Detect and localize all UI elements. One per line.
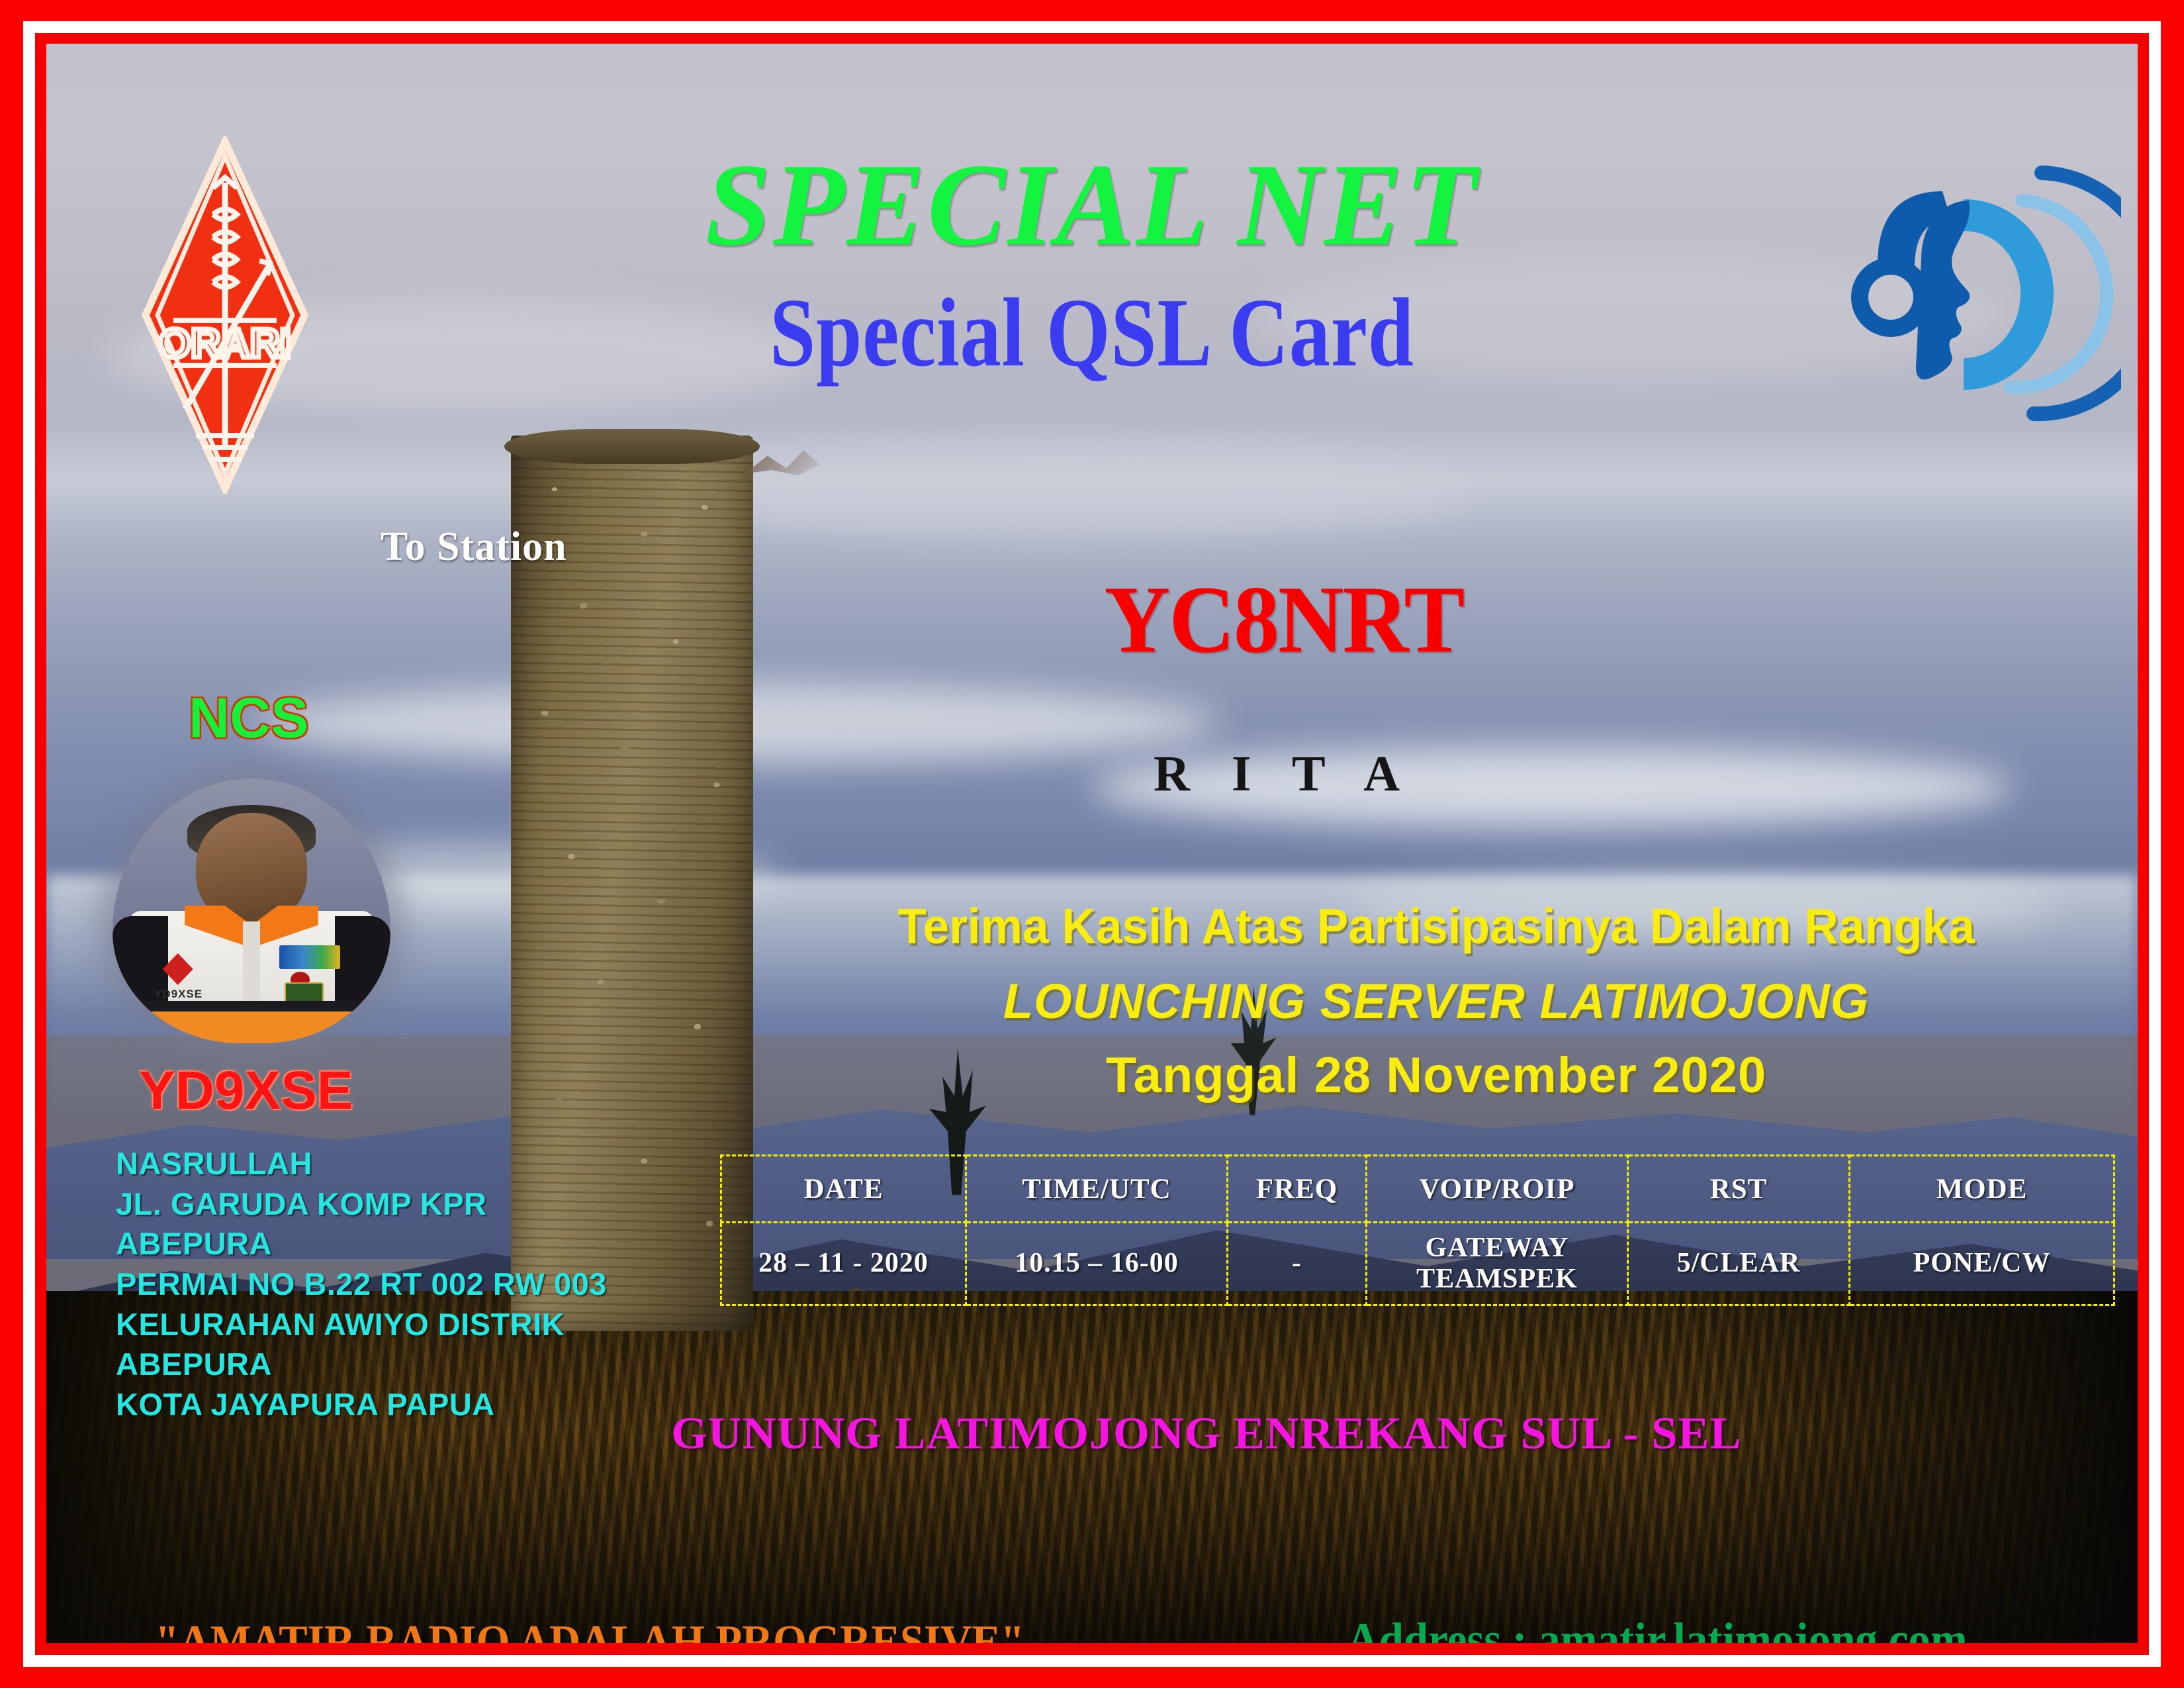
- column-header-rst: RST: [1628, 1156, 1850, 1223]
- cell-time: 10.15 – 16-00: [966, 1223, 1228, 1305]
- address-line: NASRULLAH: [116, 1144, 607, 1184]
- motto-text: "AMATIR RADIO ADALAH PROGRESIVE": [155, 1616, 1024, 1643]
- ncs-label: NCS: [189, 686, 309, 751]
- event-text-block: Terima Kasih Atas Partisipasinya Dalam R…: [774, 898, 2098, 1104]
- address-line: ABEPURA: [116, 1224, 607, 1264]
- ncs-operator-avatar: YD9XSE: [113, 778, 390, 1043]
- location-caption: GUNUNG LATIMOJONG ENREKANG SUL - SEL: [671, 1407, 1741, 1460]
- cell-date: 28 – 11 - 2020: [721, 1223, 966, 1305]
- column-header-time: TIME/UTC: [966, 1156, 1228, 1223]
- address-line: PERMAI NO B.22 RT 002 RW 003: [116, 1264, 607, 1305]
- website-address: Address : amatir.latimojong.com: [1347, 1613, 1967, 1643]
- cloud: [632, 444, 1469, 539]
- operator-name: R I T A: [1013, 745, 1555, 803]
- stone-pillar-cap: [504, 429, 760, 464]
- cell-rst: 5/CLEAR: [1628, 1223, 1850, 1305]
- card-background-photo: ORARI SPECIAL NET Special QSL Card To St…: [46, 44, 2138, 1643]
- event-date-line: Tanggal 28 November 2020: [774, 1047, 2098, 1104]
- event-occasion-line: LOUNCHING SERVER LATIMOJONG: [774, 973, 2098, 1029]
- column-header-freq: FREQ: [1228, 1156, 1367, 1223]
- foreground-shadow-right: [1678, 1291, 2138, 1643]
- cell-mode: PONE/CW: [1850, 1223, 2115, 1305]
- ncs-callsign: YD9XSE: [139, 1060, 353, 1122]
- table-header-row: DATE TIME/UTC FREQ VOIP/ROIP RST MODE: [721, 1156, 2115, 1223]
- address-block: NASRULLAH JL. GARUDA KOMP KPR ABEPURA PE…: [116, 1144, 607, 1425]
- address-line: KOTA JAYAPURA PAPUA: [116, 1385, 607, 1425]
- avatar-sash: [146, 1011, 357, 1043]
- station-callsign: YC8NRT: [1013, 564, 1555, 675]
- qsl-card: ORARI SPECIAL NET Special QSL Card To St…: [0, 0, 2184, 1688]
- cell-freq: -: [1228, 1223, 1367, 1305]
- column-header-date: DATE: [721, 1156, 966, 1223]
- address-line: ABEPURA: [116, 1344, 607, 1385]
- qso-log-table: DATE TIME/UTC FREQ VOIP/ROIP RST MODE 28…: [720, 1154, 2115, 1306]
- cell-voip-roip: GATEWAYTEAMSPEK: [1367, 1223, 1628, 1305]
- subtitle: Special QSL Card: [214, 277, 1970, 389]
- avatar-callsign-embroidery: YD9XSE: [154, 988, 203, 1001]
- avatar-shoulder-badge: [279, 945, 340, 969]
- column-header-mode: MODE: [1850, 1156, 2115, 1223]
- page-title: SPECIAL NET: [46, 136, 2138, 273]
- to-station-label: To Station: [381, 524, 567, 571]
- column-header-voip: VOIP/ROIP: [1367, 1156, 1628, 1223]
- address-line: KELURAHAN AWIYO DISTRIK: [116, 1305, 607, 1345]
- table-row: 28 – 11 - 2020 10.15 – 16-00 - GATEWAYTE…: [721, 1223, 2115, 1305]
- event-thanks-line: Terima Kasih Atas Partisipasinya Dalam R…: [807, 898, 2065, 955]
- address-line: JL. GARUDA KOMP KPR: [116, 1184, 607, 1225]
